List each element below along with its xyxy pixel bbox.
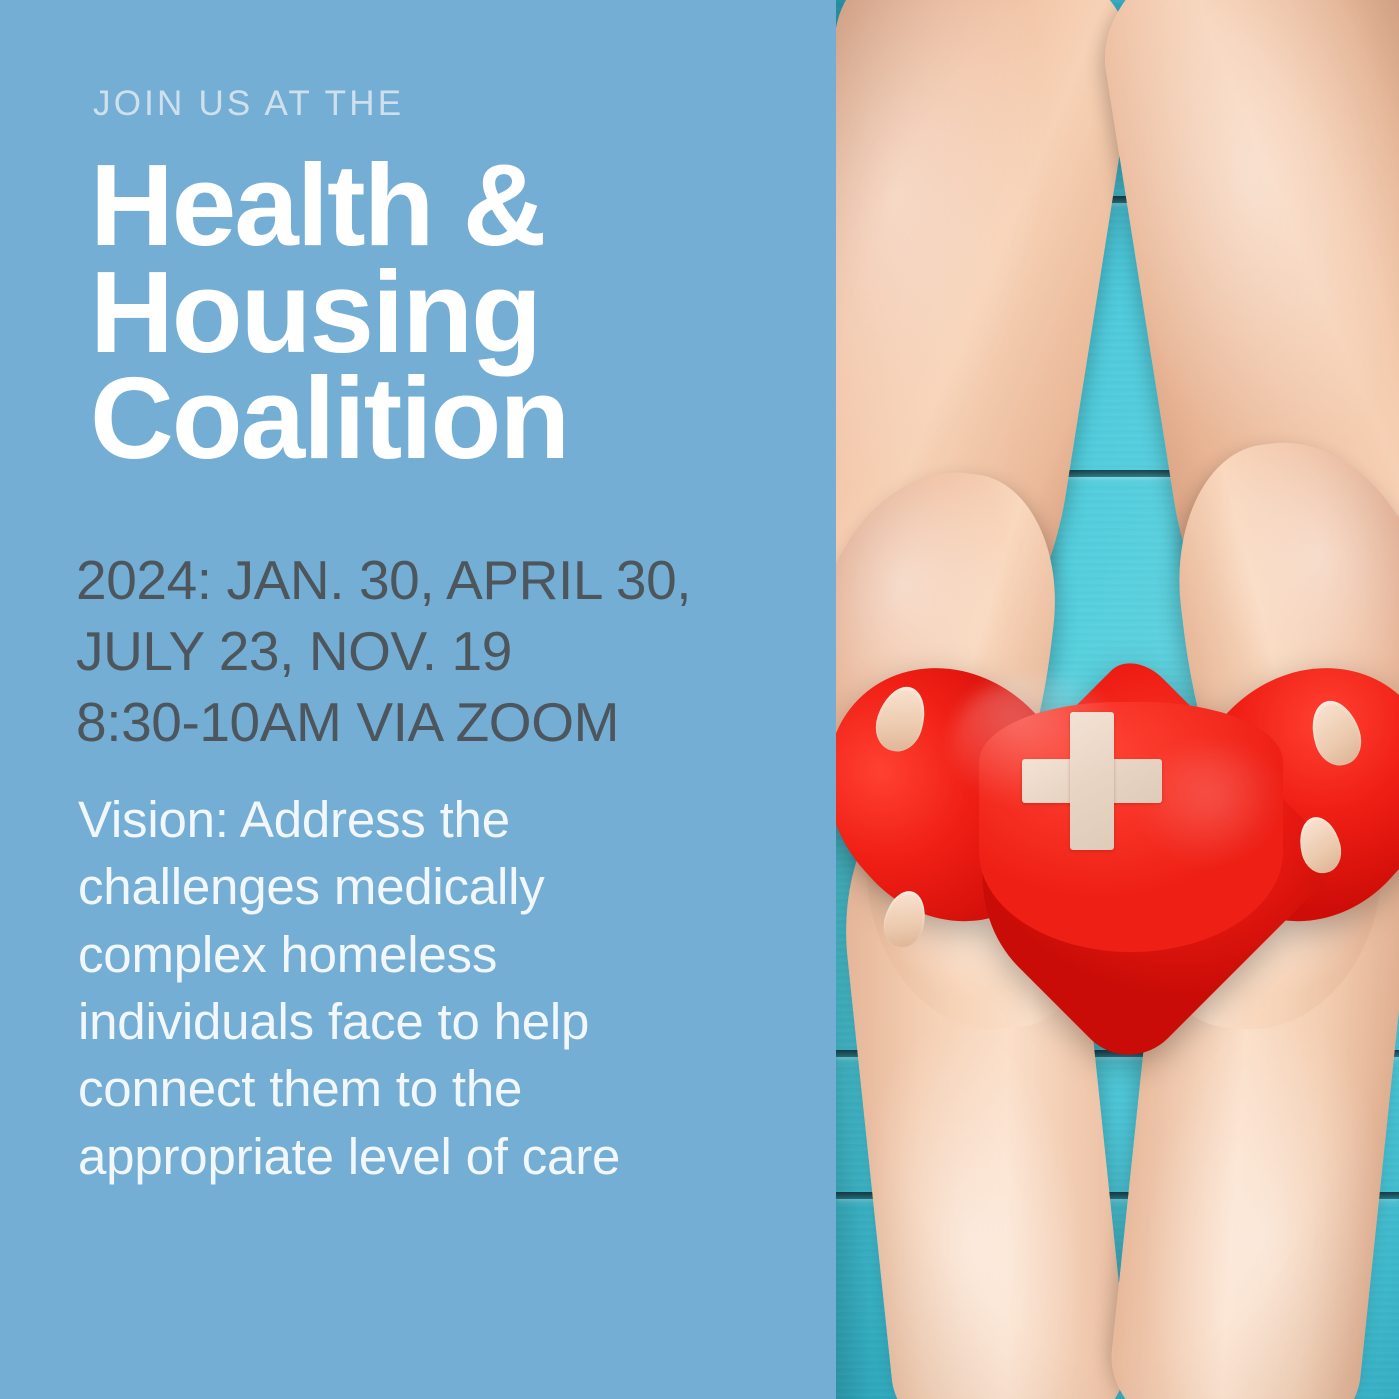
headline-line-1: Health &: [90, 152, 790, 259]
vision-statement: Vision: Address the challenges medically…: [78, 786, 778, 1190]
bandage-vertical-strip: [1070, 712, 1114, 850]
vision-line-1: Vision: Address the: [78, 786, 778, 853]
dates-line-3: 8:30-10AM VIA ZOOM: [76, 687, 816, 758]
vision-line-5: connect them to the: [78, 1055, 778, 1122]
heart-shape: [922, 628, 1340, 1018]
red-heart: [922, 628, 1340, 1018]
vision-line-4: individuals face to help: [78, 988, 778, 1055]
event-dates-block: 2024: JAN. 30, APRIL 30, JULY 23, NOV. 1…: [76, 545, 816, 758]
hands-holding-heart-photo: [836, 0, 1399, 1399]
page-title: Health & Housing Coalition: [90, 152, 790, 472]
vision-line-2: challenges medically: [78, 853, 778, 920]
vision-line-6: appropriate level of care: [78, 1123, 778, 1190]
event-poster: JOIN US AT THE Health & Housing Coalitio…: [0, 0, 1399, 1399]
vision-line-3: complex homeless: [78, 921, 778, 988]
text-panel: JOIN US AT THE Health & Housing Coalitio…: [0, 0, 836, 1399]
dates-line-2: JULY 23, NOV. 19: [76, 616, 816, 687]
headline-line-3: Coalition: [90, 365, 790, 472]
dates-line-1: 2024: JAN. 30, APRIL 30,: [76, 545, 816, 616]
eyebrow-text: JOIN US AT THE: [93, 86, 404, 121]
bandage-cross-icon: [1022, 712, 1162, 850]
headline-line-2: Housing: [90, 259, 790, 366]
